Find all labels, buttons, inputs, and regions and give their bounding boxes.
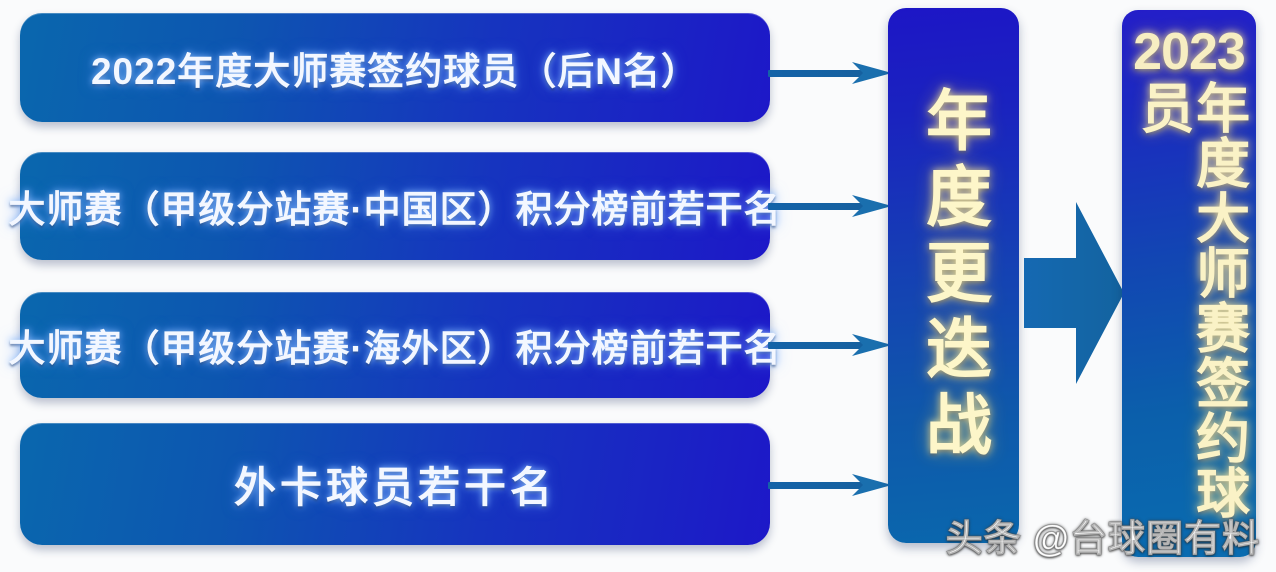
source-box-label: 2022年度大师赛签约球员（后N名）: [91, 41, 699, 95]
source-box-china-ranking[interactable]: 大师赛（甲级分站赛·中国区）积分榜前若干名: [20, 152, 770, 260]
source-box-retained-players[interactable]: 2022年度大师赛签约球员（后N名）: [20, 13, 770, 122]
process-bar-annual-playoff[interactable]: 年度更迭战: [888, 8, 1019, 543]
arrow-shaft: [768, 482, 863, 489]
process-bar-label: 年度更迭战: [910, 86, 997, 466]
connector-arrow-1: [768, 60, 892, 86]
source-box-overseas-ranking[interactable]: 大师赛（甲级分站赛·海外区）积分榜前若干名: [20, 292, 770, 398]
result-bar-2023-signed-players[interactable]: 2023 年度大师赛签约球员: [1122, 10, 1256, 557]
result-year: 2023: [1133, 26, 1245, 78]
watermark-text: 头条 @台球圈有料: [946, 508, 1260, 562]
connector-arrow-2: [768, 193, 892, 219]
flow-diagram-canvas: 2022年度大师赛签约球员（后N名） 大师赛（甲级分站赛·中国区）积分榜前若干名…: [0, 0, 1276, 572]
source-box-wildcard[interactable]: 外卡球员若干名: [20, 423, 770, 545]
arrow-shaft: [768, 70, 863, 77]
source-box-label: 外卡球员若干名: [234, 454, 556, 515]
connector-arrow-3: [768, 332, 892, 358]
block-arrow-right-icon: [1024, 200, 1124, 386]
source-box-label: 大师赛（甲级分站赛·海外区）积分榜前若干名: [8, 318, 781, 372]
connector-arrow-4: [768, 472, 892, 498]
arrow-shaft: [768, 203, 863, 210]
source-box-label: 大师赛（甲级分站赛·中国区）积分榜前若干名: [8, 179, 781, 233]
arrow-shaft: [768, 342, 863, 349]
result-bar-label: 年度大师赛签约球员: [1133, 80, 1244, 557]
